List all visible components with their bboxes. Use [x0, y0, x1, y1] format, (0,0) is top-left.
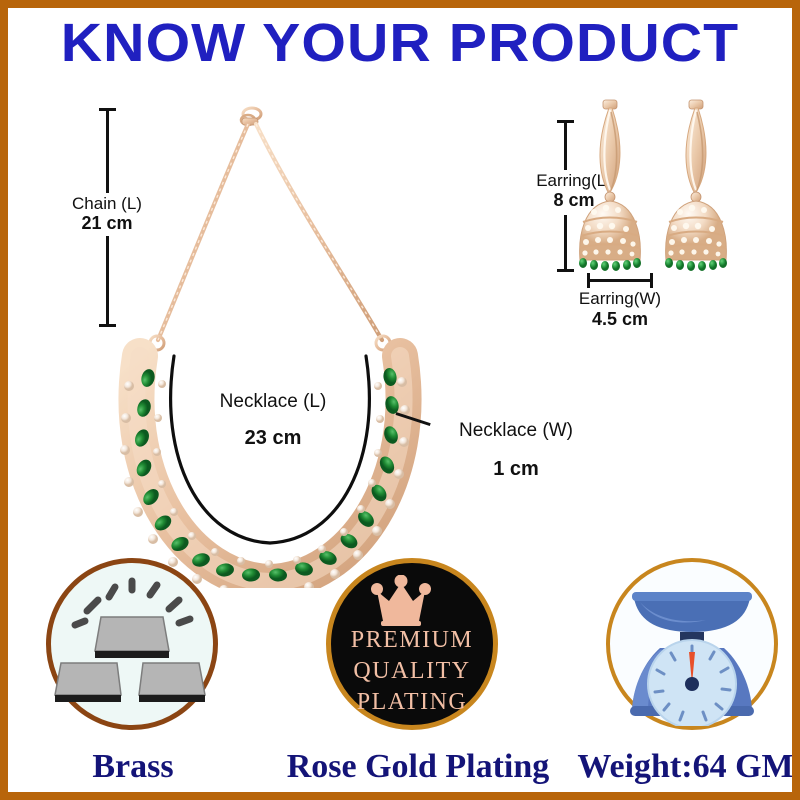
plating-text-block: PREMIUM QUALITY PLATING [331, 625, 493, 718]
badge-brass [46, 558, 218, 730]
page-title: KNOW YOUR PRODUCT [0, 12, 800, 74]
badge-brass-caption: Brass [8, 748, 258, 786]
product-infographic: KNOW YOUR PRODUCT Chain (L) 21 cm [0, 0, 800, 800]
necklace-width-label: Necklace (W) [448, 420, 584, 442]
kitchen-scale-icon [610, 562, 774, 726]
badge-plating: PREMIUM QUALITY PLATING [326, 558, 498, 730]
necklace-illustration [96, 88, 436, 588]
earring-width-value: 4.5 cm [564, 309, 676, 330]
earring-right [665, 100, 727, 271]
plating-line-3: PLATING [331, 687, 493, 718]
earring-length-line-lower [564, 215, 567, 271]
plating-line-2: QUALITY [331, 656, 493, 687]
earring-length-line-upper [564, 120, 567, 170]
badge-weight [606, 558, 778, 730]
earring-width-label: Earring(W) [564, 289, 676, 309]
necklace-length-value: 23 cm [213, 427, 333, 450]
plating-line-1: PREMIUM [331, 625, 493, 656]
necklace-width-value: 1 cm [448, 458, 584, 481]
earring-left [579, 100, 641, 271]
necklace-length-label: Necklace (L) [213, 391, 333, 413]
jhumka-earrings-illustration [578, 96, 758, 286]
badge-weight-caption: Weight:64 GM [563, 748, 800, 786]
necklace-clasp [241, 108, 261, 125]
badge-plating-caption: Rose Gold Plating [263, 748, 573, 786]
earring-length-bottom-cap [557, 269, 574, 272]
metal-ingots-icon [51, 563, 213, 725]
